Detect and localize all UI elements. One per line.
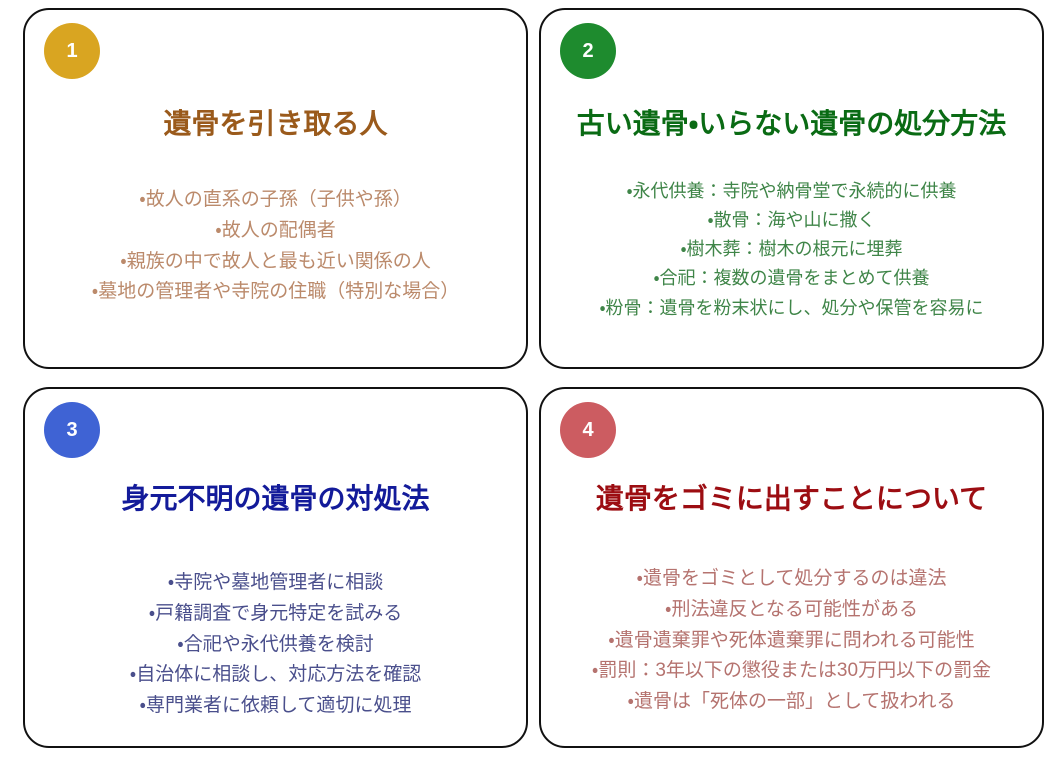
list-item: ・合祀：複数の遺骨をまとめて供養 <box>556 264 1027 293</box>
list-item: ・遺骨をゴミとして処分するのは違法 <box>556 564 1027 595</box>
list-item: ・刑法違反となる可能性がある <box>556 595 1027 626</box>
card-2-title: 古い遺骨・いらない遺骨の処分方法 <box>561 106 1022 141</box>
list-item: ・故人の配偶者 <box>40 216 511 247</box>
list-item: ・故人の直系の子孫（子供や孫） <box>40 185 511 216</box>
card-2-body-list: ・永代供養：寺院や納骨堂で永続的に供養 ・散骨：海や山に撒く ・樹木葬：樹木の根… <box>556 177 1027 323</box>
card-3: 3 身元不明の遺骨の対処法 ・寺院や墓地管理者に相談 ・戸籍調査で身元特定を試み… <box>23 387 528 748</box>
list-item: ・専門業者に依頼して適切に処理 <box>40 691 511 722</box>
list-item: ・遺骨は「死体の一部」として扱われる <box>556 687 1027 718</box>
card-3-body-list: ・寺院や墓地管理者に相談 ・戸籍調査で身元特定を試みる ・合祀や永代供養を検討 … <box>40 568 511 722</box>
card-4: 4 遺骨をゴミに出すことについて ・遺骨をゴミとして処分するのは違法 ・刑法違反… <box>539 387 1044 748</box>
list-item: ・戸籍調査で身元特定を試みる <box>40 599 511 630</box>
card-2: 2 古い遺骨・いらない遺骨の処分方法 ・永代供養：寺院や納骨堂で永続的に供養 ・… <box>539 8 1044 369</box>
card-4-number-badge: 4 <box>560 402 616 458</box>
list-item: ・樹木葬：樹木の根元に埋葬 <box>556 235 1027 264</box>
list-item: ・墓地の管理者や寺院の住職（特別な場合） <box>40 277 511 308</box>
list-item: ・粉骨：遺骨を粉末状にし、処分や保管を容易に <box>556 294 1027 323</box>
list-item: ・自治体に相談し、対応方法を確認 <box>40 660 511 691</box>
card-4-title: 遺骨をゴミに出すことについて <box>561 481 1022 516</box>
list-item: ・寺院や墓地管理者に相談 <box>40 568 511 599</box>
list-item: ・合祀や永代供養を検討 <box>40 630 511 661</box>
card-2-number-badge: 2 <box>560 23 616 79</box>
card-1: 1 遺骨を引き取る人 ・故人の直系の子孫（子供や孫） ・故人の配偶者 ・親族の中… <box>23 8 528 369</box>
list-item: ・遺骨遺棄罪や死体遺棄罪に問われる可能性 <box>556 626 1027 657</box>
card-1-number-badge: 1 <box>44 23 100 79</box>
list-item: ・散骨：海や山に撒く <box>556 206 1027 235</box>
infographic-board: 1 遺骨を引き取る人 ・故人の直系の子孫（子供や孫） ・故人の配偶者 ・親族の中… <box>0 0 1053 766</box>
card-3-title: 身元不明の遺骨の対処法 <box>45 481 506 516</box>
card-1-title: 遺骨を引き取る人 <box>45 106 506 141</box>
card-4-body-list: ・遺骨をゴミとして処分するのは違法 ・刑法違反となる可能性がある ・遺骨遺棄罪や… <box>556 564 1027 718</box>
list-item: ・永代供養：寺院や納骨堂で永続的に供養 <box>556 177 1027 206</box>
list-item: ・罰則：3年以下の懲役または30万円以下の罰金 <box>556 656 1027 687</box>
card-1-body-list: ・故人の直系の子孫（子供や孫） ・故人の配偶者 ・親族の中で故人と最も近い関係の… <box>40 185 511 308</box>
card-3-number-badge: 3 <box>44 402 100 458</box>
list-item: ・親族の中で故人と最も近い関係の人 <box>40 247 511 278</box>
